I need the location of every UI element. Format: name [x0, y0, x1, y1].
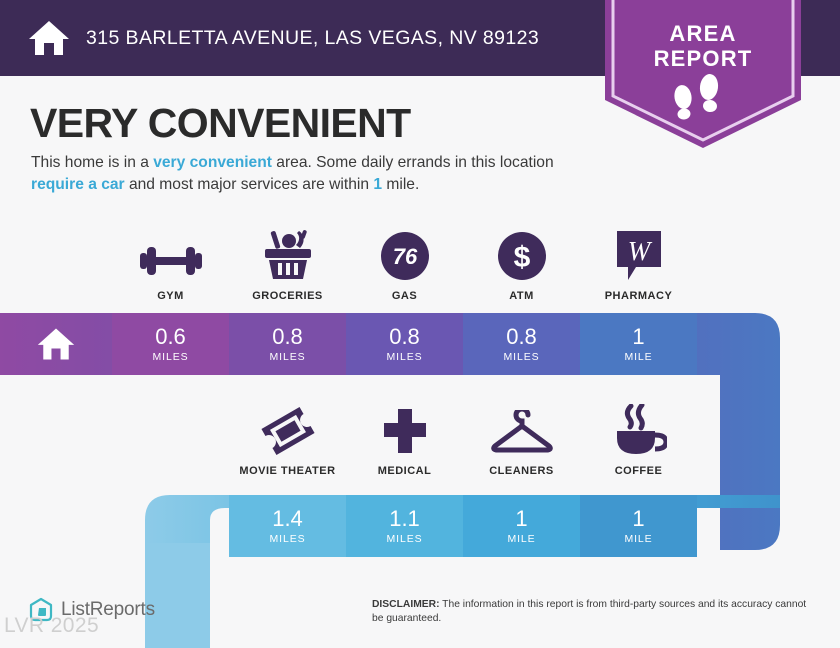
gas-76-icon: 76	[380, 225, 430, 281]
summary-part-1: This home is in a	[31, 154, 153, 171]
amenity-icon-row-top: GYM GROCERIES	[112, 225, 697, 302]
svg-text:76: 76	[392, 244, 417, 269]
summary-part-3: and most major services are within	[125, 176, 374, 193]
area-report-badge: AREA REPORT	[605, 0, 801, 148]
header-address: 315 BARLETTA AVENUE, LAS VEGAS, NV 89123	[86, 27, 539, 50]
summary-highlight-3: 1	[373, 176, 382, 193]
amenity-gym: GYM	[112, 225, 229, 302]
summary-part-2: area. Some daily errands in this locatio…	[272, 154, 554, 171]
grocery-basket-icon	[261, 225, 315, 281]
svg-text:W: W	[627, 236, 652, 266]
summary-highlight-1: very convenient	[153, 154, 272, 171]
amenity-label: PHARMACY	[605, 290, 673, 302]
dollar-circle-icon: $	[497, 225, 547, 281]
walgreens-w-icon: W	[614, 225, 664, 281]
amenity-atm: $ ATM	[463, 225, 580, 302]
dumbbell-icon	[140, 225, 202, 281]
disclaimer: DISCLAIMER: The information in this repo…	[372, 598, 812, 626]
amenity-label: GAS	[392, 290, 417, 302]
svg-text:$: $	[513, 241, 530, 274]
home-icon	[26, 17, 72, 59]
amenity-label: GROCERIES	[252, 290, 323, 302]
amenity-pharmacy: W PHARMACY	[580, 225, 697, 302]
summary-text: This home is in a very convenient area. …	[31, 152, 606, 196]
lvr-watermark: LVR 2025	[4, 614, 99, 638]
area-report-page: 315 BARLETTA AVENUE, LAS VEGAS, NV 89123…	[0, 0, 840, 648]
disclaimer-label: DISCLAIMER:	[372, 599, 440, 610]
summary-highlight-2: require a car	[31, 176, 125, 193]
amenity-label: GYM	[157, 290, 184, 302]
amenity-label: ATM	[509, 290, 534, 302]
summary-part-4: mile.	[382, 176, 419, 193]
page-title: VERY CONVENIENT	[30, 100, 411, 147]
amenity-groceries: GROCERIES	[229, 225, 346, 302]
amenity-gas: 76 GAS	[346, 225, 463, 302]
